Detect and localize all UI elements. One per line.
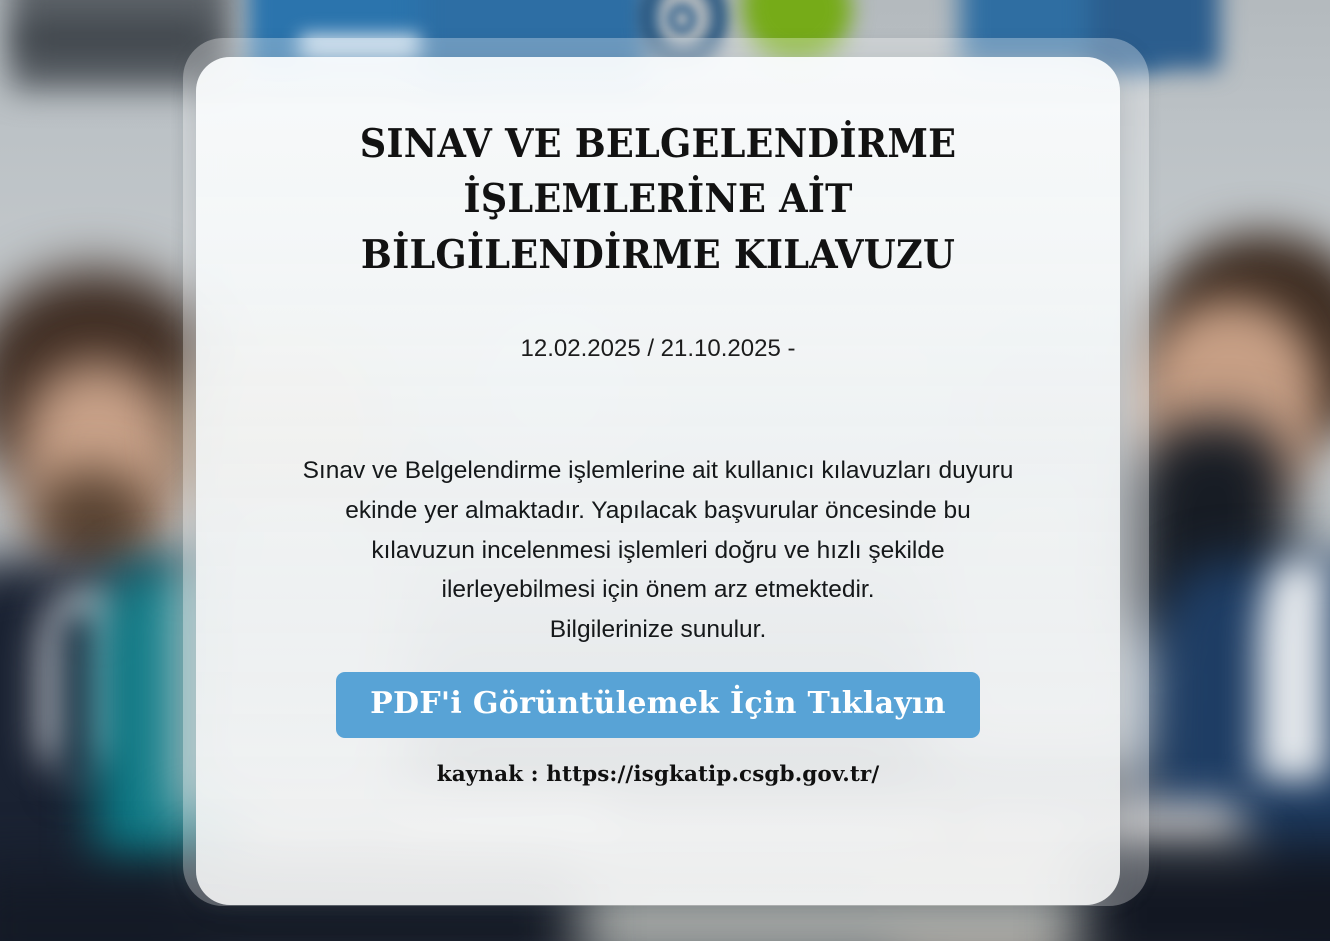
body-line-2: ekinde yer almaktadır. Yapılacak başvuru… [236, 491, 1080, 531]
bg-person-right-shirt [1258, 560, 1328, 780]
bg-logo-ring-inner-icon [668, 4, 696, 34]
bg-poster-left-inner-icon [20, 22, 210, 56]
body-line-3: kılavuzun incelenmesi işlemleri doğru ve… [236, 531, 1080, 571]
page-title-line-2: BİLGİLENDİRME KILAVUZU [361, 232, 955, 278]
screenshot-root: SINAV VE BELGELENDİRME İŞLEMLERİNE AİT B… [0, 0, 1330, 941]
body-line-4: ilerleyebilmesi için önem arz etmektedir… [236, 570, 1080, 610]
announcement-body: Sınav ve Belgelendirme işlemlerine ait k… [236, 451, 1080, 649]
view-pdf-button[interactable]: PDF'i Görüntülemek İçin Tıklayın [336, 672, 980, 738]
source-link-text: kaynak : https://isgkatip.csgb.gov.tr/ [236, 762, 1080, 787]
page-title-line-1: SINAV VE BELGELENDİRME İŞLEMLERİNE AİT [360, 121, 957, 222]
body-line-5: Bilgilerinize sunulur. [236, 610, 1080, 650]
page-title: SINAV VE BELGELENDİRME İŞLEMLERİNE AİT B… [268, 117, 1048, 283]
publication-date: 12.02.2025 / 21.10.2025 - [236, 335, 1080, 363]
announcement-card: SINAV VE BELGELENDİRME İŞLEMLERİNE AİT B… [196, 57, 1120, 905]
body-line-1: Sınav ve Belgelendirme işlemlerine ait k… [236, 451, 1080, 491]
pdf-button-container: PDF'i Görüntülemek İçin Tıklayın [236, 672, 1080, 738]
